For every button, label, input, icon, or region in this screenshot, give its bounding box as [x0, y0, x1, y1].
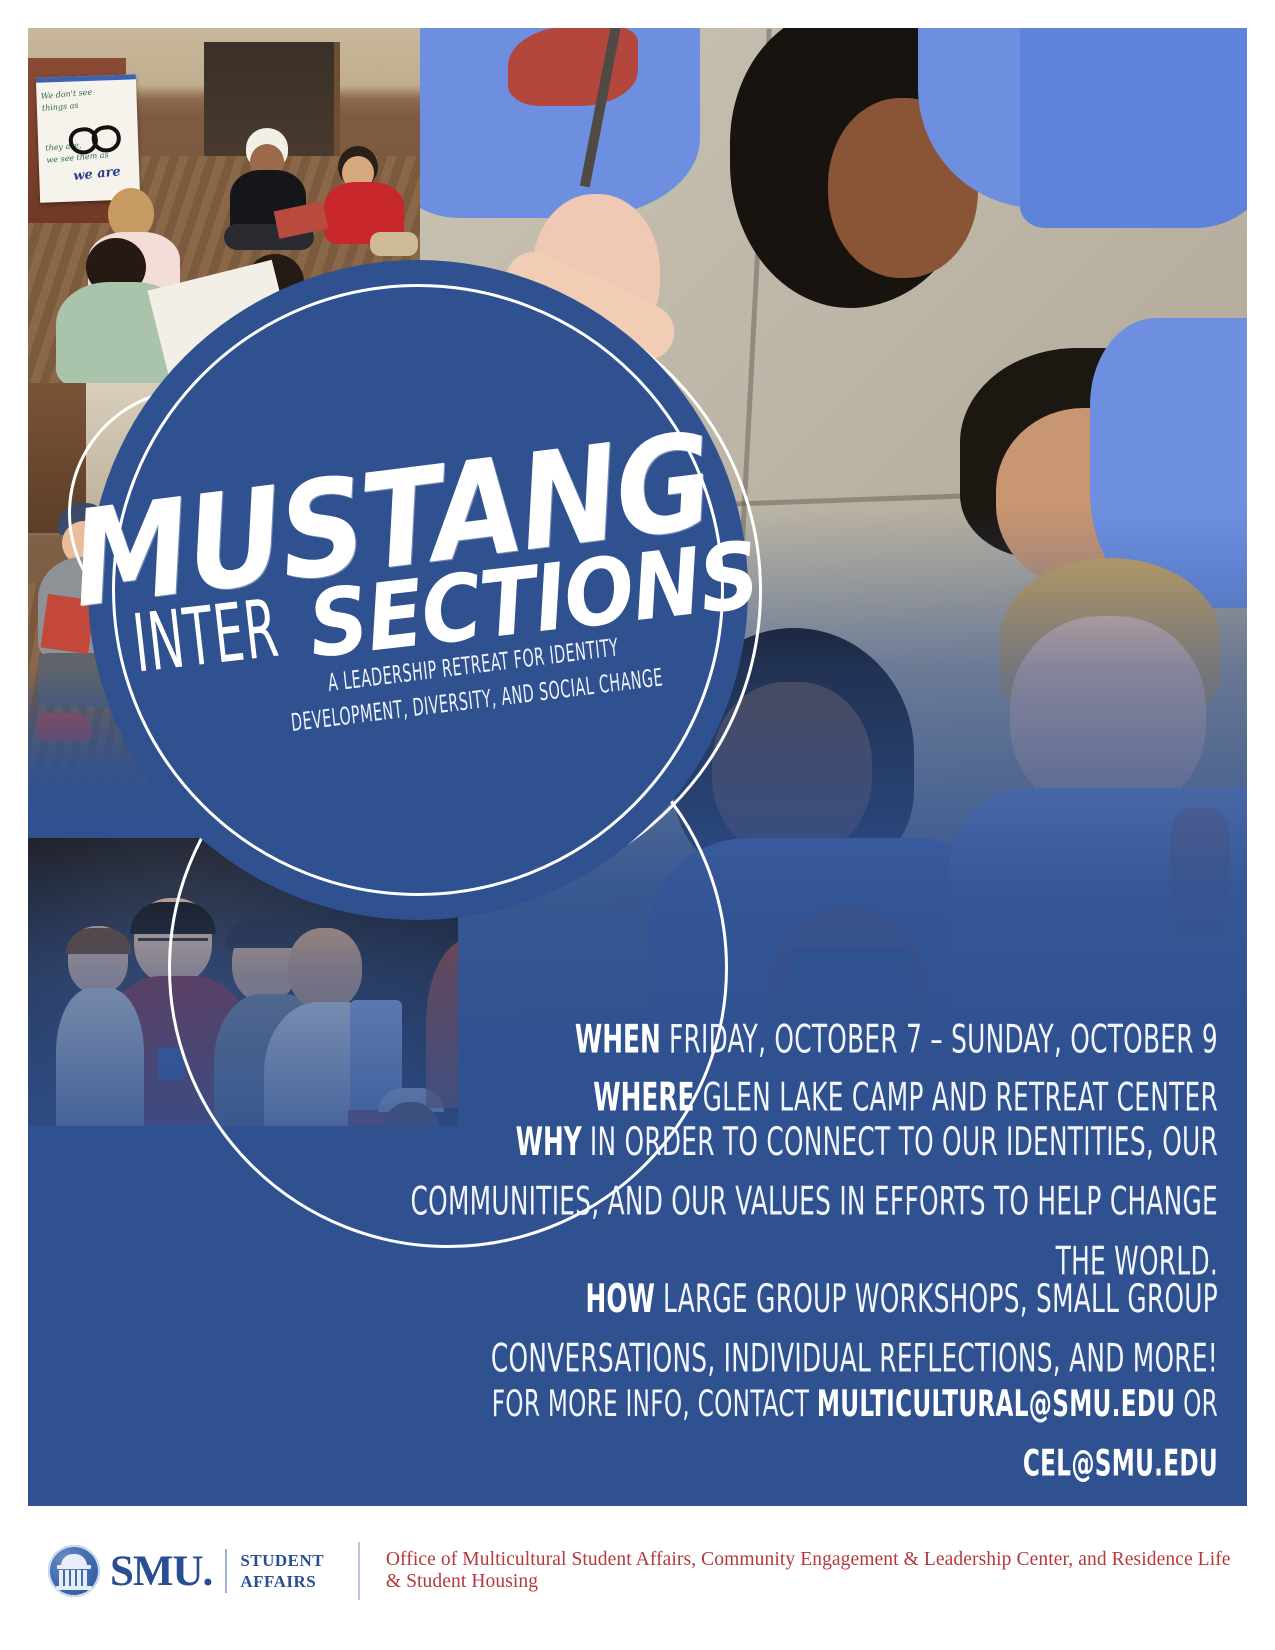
glasses-icon — [68, 124, 122, 150]
detail-when-label: WHEN — [575, 1018, 661, 1064]
flip-chart-line-5: we are — [73, 164, 122, 184]
detail-when-value: FRIDAY, OCTOBER 7 – SUNDAY, OCTOBER 9 — [669, 1018, 1218, 1064]
detail-how: HOW LARGE GROUP WORKSHOPS, SMALL GROUP C… — [353, 1270, 1218, 1390]
detail-contact: FOR MORE INFO, CONTACT MULTICULTURAL@SMU… — [353, 1374, 1218, 1494]
flip-chart: We don't see things as they are, we see … — [36, 74, 140, 202]
detail-how-label: HOW — [586, 1277, 655, 1323]
logo-divider — [225, 1549, 227, 1593]
smu-unit-line-1: STUDENT — [240, 1550, 324, 1571]
smu-seal-icon — [48, 1545, 100, 1597]
smu-unit-line-2: AFFAIRS — [240, 1571, 324, 1592]
contact-email-cel[interactable]: CEL@SMU.EDU — [1023, 1442, 1218, 1485]
contact-joiner: OR — [1175, 1382, 1218, 1425]
smu-wordmark: SMU. — [110, 1547, 212, 1596]
detail-when: WHEN FRIDAY, OCTOBER 7 – SUNDAY, OCTOBER… — [353, 1011, 1218, 1071]
event-logo: MUSTANG INTER SECTIONS A LEADERSHIP RETR… — [58, 230, 778, 950]
smu-unit-name: STUDENT AFFAIRS — [240, 1550, 324, 1592]
detail-why-label: WHY — [516, 1120, 582, 1166]
poster-footer: SMU. STUDENT AFFAIRS Office of Multicult… — [28, 1516, 1247, 1626]
contact-email-multicultural[interactable]: MULTICULTURAL@SMU.EDU — [817, 1382, 1176, 1425]
detail-why: WHY IN ORDER TO CONNECT TO OUR IDENTITIE… — [353, 1113, 1218, 1292]
smu-student-affairs-logo: SMU. STUDENT AFFAIRS — [48, 1545, 324, 1597]
footer-divider — [358, 1542, 360, 1600]
poster-body: We don't see things as they are, we see … — [28, 28, 1247, 1506]
event-details: WHEN FRIDAY, OCTOBER 7 – SUNDAY, OCTOBER… — [278, 1018, 1218, 1492]
contact-prefix: FOR MORE INFO, CONTACT — [492, 1382, 817, 1425]
sponsoring-offices: Office of Multicultural Student Affairs,… — [386, 1549, 1247, 1593]
poster-page: We don't see things as they are, we see … — [0, 0, 1275, 1650]
logo-title-inter: INTER — [130, 595, 282, 683]
